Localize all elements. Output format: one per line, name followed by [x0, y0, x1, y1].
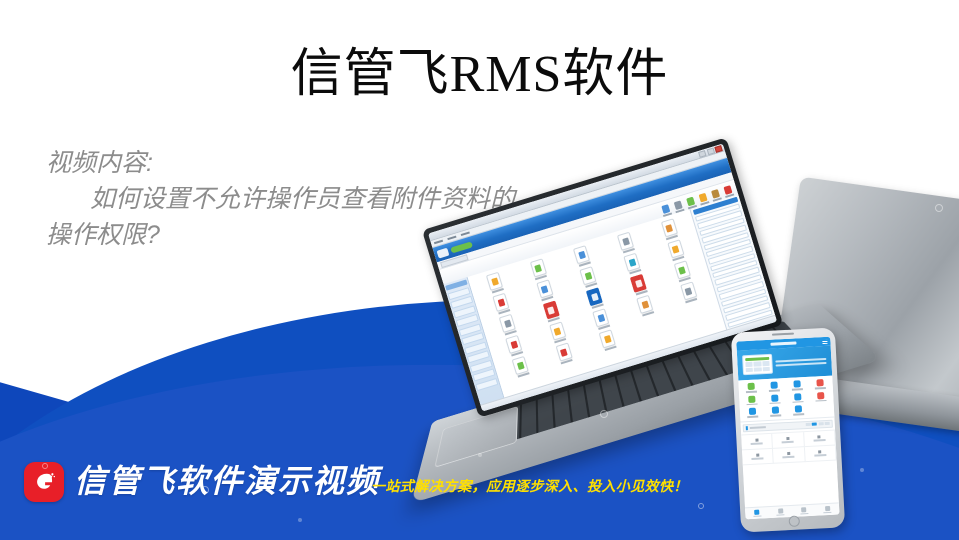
- xinguanfei-bird-logo-icon: [24, 462, 64, 502]
- mobile-app-icon[interactable]: [764, 394, 786, 405]
- mobile-app-icon-glyph: [793, 380, 800, 387]
- mobile-stat-label: [782, 441, 794, 443]
- mobile-stat-value: [755, 438, 758, 441]
- menu-item[interactable]: [447, 236, 456, 241]
- module-tile-icon: [628, 258, 636, 266]
- mobile-stat-cell[interactable]: [772, 432, 804, 449]
- mobile-stat-label: [751, 443, 763, 445]
- mobile-app-icon-glyph: [771, 394, 778, 401]
- mobile-app-icon[interactable]: [741, 395, 763, 406]
- mobile-banner-card-icon: [742, 354, 773, 376]
- mobile-app-icon[interactable]: [809, 391, 831, 402]
- menu-item[interactable]: [434, 240, 443, 245]
- mobile-app-icon-glyph: [817, 392, 824, 399]
- module-tile-icon: [554, 327, 562, 335]
- module-tile-icon: [578, 250, 586, 258]
- module-tile-icon: [584, 271, 592, 279]
- module-tile-icon: [510, 340, 518, 348]
- mobile-app-icon-label: [770, 415, 781, 417]
- mobile-app-icon-glyph: [771, 381, 778, 388]
- module-tile-icon: [534, 264, 542, 272]
- footer-tagline: 一站式解决方案，应用逐步深入、投入小见效快！: [371, 476, 688, 496]
- page-title: 信管飞RMS软件: [0, 44, 959, 106]
- module-tile-icon: [517, 361, 525, 369]
- mobile-app-icon-label: [814, 387, 825, 389]
- mobile-app-icon[interactable]: [787, 405, 809, 416]
- mobile-app-icon[interactable]: [786, 380, 808, 391]
- mobile-app-icon-glyph: [749, 408, 756, 415]
- hamburger-menu-icon[interactable]: [822, 339, 827, 343]
- mobile-banner-text: [775, 358, 826, 367]
- mobile-stat-value: [787, 452, 790, 455]
- slide-canvas: 信管飞RMS软件 视频内容: 如何设置不允许操作员查看附件资料的 操作权限?: [0, 0, 959, 540]
- mobile-app-icon-label: [792, 401, 803, 403]
- module-tile-icon: [678, 266, 686, 274]
- mobile-app-icon-label: [747, 403, 758, 405]
- module-tile-icon: [597, 313, 605, 321]
- mobile-app-icon[interactable]: [763, 381, 785, 392]
- mobile-icon-grid[interactable]: [738, 376, 834, 423]
- mobile-header-title: [770, 341, 796, 345]
- mobile-app-icon-label: [793, 413, 804, 415]
- mobile-app-icon[interactable]: [809, 379, 831, 390]
- menu-item[interactable]: [461, 231, 470, 236]
- mobile-stat-label: [813, 439, 825, 441]
- mobile-app-icon-glyph: [772, 407, 779, 414]
- mobile-stat-cell[interactable]: [741, 434, 773, 451]
- module-tile-icon: [635, 279, 643, 287]
- module-tile-icon: [541, 285, 549, 293]
- mobile-app-icon-label: [770, 402, 781, 404]
- mobile-app-icon-label: [792, 388, 803, 390]
- mobile-app-icon-label: [769, 389, 780, 391]
- filter-chip-active[interactable]: [812, 423, 817, 426]
- mobile-app-icon[interactable]: [742, 407, 764, 418]
- module-tile-icon: [672, 245, 680, 253]
- module-tile-icon: [641, 300, 649, 308]
- mobile-stat-value: [818, 435, 821, 438]
- app-logo-icon: [436, 247, 449, 258]
- mobile-app-icon-label: [748, 416, 759, 418]
- mobile-banner: [737, 346, 832, 381]
- module-tile-icon: [560, 348, 568, 356]
- module-tile-icon: [504, 319, 512, 327]
- module-tile-icon: [685, 287, 693, 295]
- module-tile-icon: [547, 306, 555, 314]
- mobile-app-icon-glyph: [748, 383, 755, 390]
- mobile-app-icon[interactable]: [787, 392, 809, 403]
- card-grid: [745, 361, 769, 372]
- phone-earpiece: [772, 333, 794, 336]
- mobile-stat-value: [818, 450, 821, 453]
- filter-chip[interactable]: [805, 423, 810, 426]
- mobile-stat-value: [786, 437, 789, 440]
- mobile-app-icon[interactable]: [765, 406, 787, 417]
- module-tile-icon: [665, 224, 673, 232]
- mobile-app-icon-glyph: [749, 395, 756, 402]
- search-placeholder: [749, 426, 765, 429]
- search-cursor: [746, 426, 748, 430]
- mobile-app-icon-label: [746, 391, 757, 393]
- mobile-app-icon-glyph: [816, 379, 823, 386]
- mobile-app-icon[interactable]: [740, 382, 762, 393]
- module-tile-icon: [497, 298, 505, 306]
- mobile-app-icon-glyph: [795, 405, 802, 412]
- module-tile-icon: [604, 334, 612, 342]
- module-tile-icon: [622, 237, 630, 245]
- filter-chip[interactable]: [818, 422, 823, 425]
- module-tile-icon: [591, 292, 599, 300]
- mobile-stat-cell[interactable]: [804, 430, 836, 447]
- filter-chip[interactable]: [825, 422, 830, 425]
- mobile-app-icon-glyph: [794, 393, 801, 400]
- module-tile-icon: [491, 277, 499, 285]
- mobile-app-icon-label: [815, 400, 826, 402]
- filter-chips[interactable]: [805, 422, 830, 426]
- footer-brand-text: 信管飞软件演示视频: [74, 459, 380, 503]
